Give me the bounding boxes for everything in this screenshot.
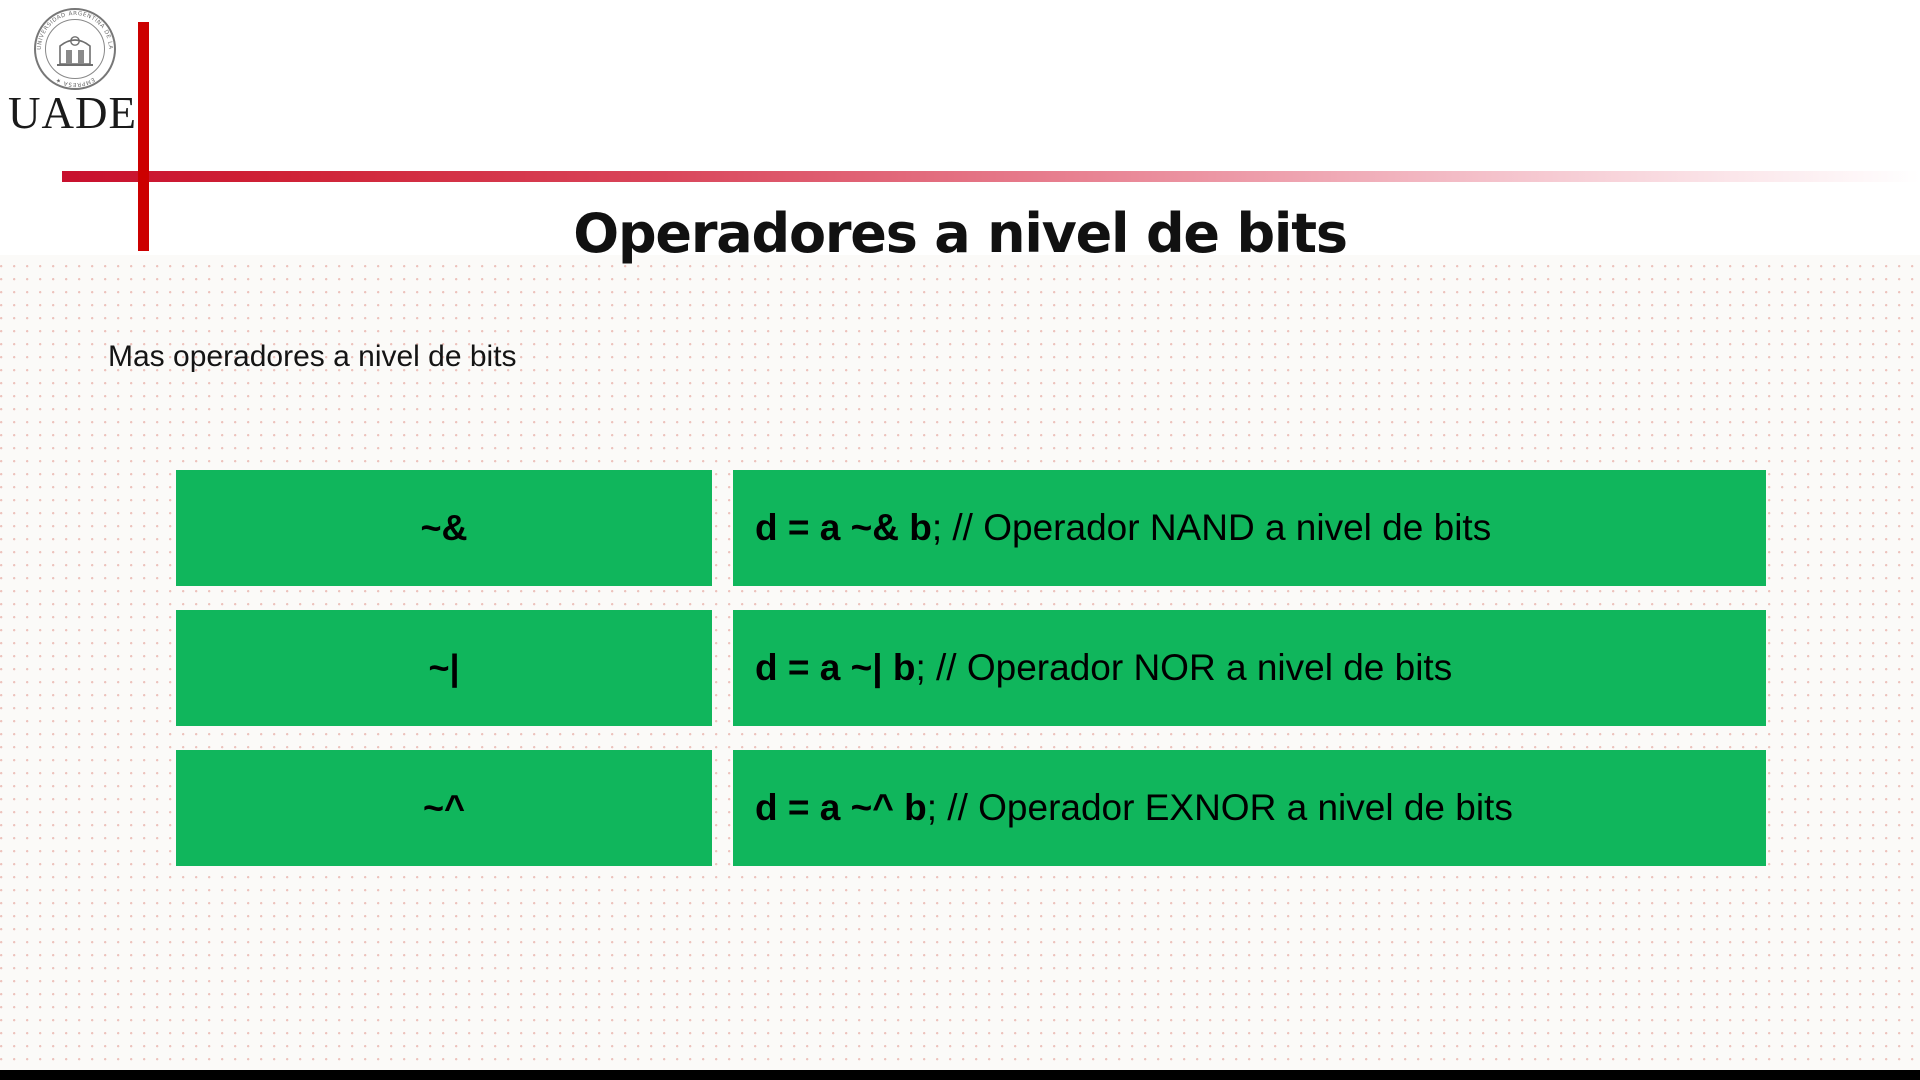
operator-description-cell: d = a ~| b; // Operador NOR a nivel de b… (733, 610, 1766, 726)
university-seal-icon: UNIVERSIDAD ARGENTINA DE LA EMPRESA ★ (34, 8, 116, 90)
uade-logo: UNIVERSIDAD ARGENTINA DE LA EMPRESA ★ UA… (8, 6, 136, 138)
operator-comment: ; // Operador NOR a nivel de bits (915, 647, 1452, 689)
operator-code: d = a ~| b (755, 647, 915, 689)
bottom-black-bar (0, 1070, 1920, 1080)
table-row: ~^ d = a ~^ b; // Operador EXNOR a nivel… (176, 750, 1766, 866)
subtitle-text: Mas operadores a nivel de bits (108, 340, 517, 374)
operator-symbol-cell: ~| (176, 610, 712, 726)
operators-table: ~& d = a ~& b; // Operador NAND a nivel … (176, 470, 1766, 866)
page-title: Operadores a nivel de bits (0, 204, 1920, 264)
operator-description-cell: d = a ~& b; // Operador NAND a nivel de … (733, 470, 1766, 586)
column-gap (712, 750, 733, 866)
column-gap (712, 470, 733, 586)
operator-code: d = a ~^ b (755, 787, 927, 829)
horizontal-gradient-rule (62, 171, 1920, 182)
operator-symbol-cell: ~^ (176, 750, 712, 866)
uade-wordmark: UADE (8, 88, 136, 138)
seal-crest-icon (56, 28, 94, 70)
operator-code: d = a ~& b (755, 507, 932, 549)
operator-comment: ; // Operador NAND a nivel de bits (932, 507, 1491, 549)
operator-symbol-cell: ~& (176, 470, 712, 586)
svg-text:EMPRESA ★: EMPRESA ★ (54, 76, 95, 87)
column-gap (712, 610, 733, 726)
table-row: ~| d = a ~| b; // Operador NOR a nivel d… (176, 610, 1766, 726)
operator-comment: ; // Operador EXNOR a nivel de bits (927, 787, 1513, 829)
operator-description-cell: d = a ~^ b; // Operador EXNOR a nivel de… (733, 750, 1766, 866)
slide: UNIVERSIDAD ARGENTINA DE LA EMPRESA ★ UA… (0, 0, 1920, 1080)
table-row: ~& d = a ~& b; // Operador NAND a nivel … (176, 470, 1766, 586)
